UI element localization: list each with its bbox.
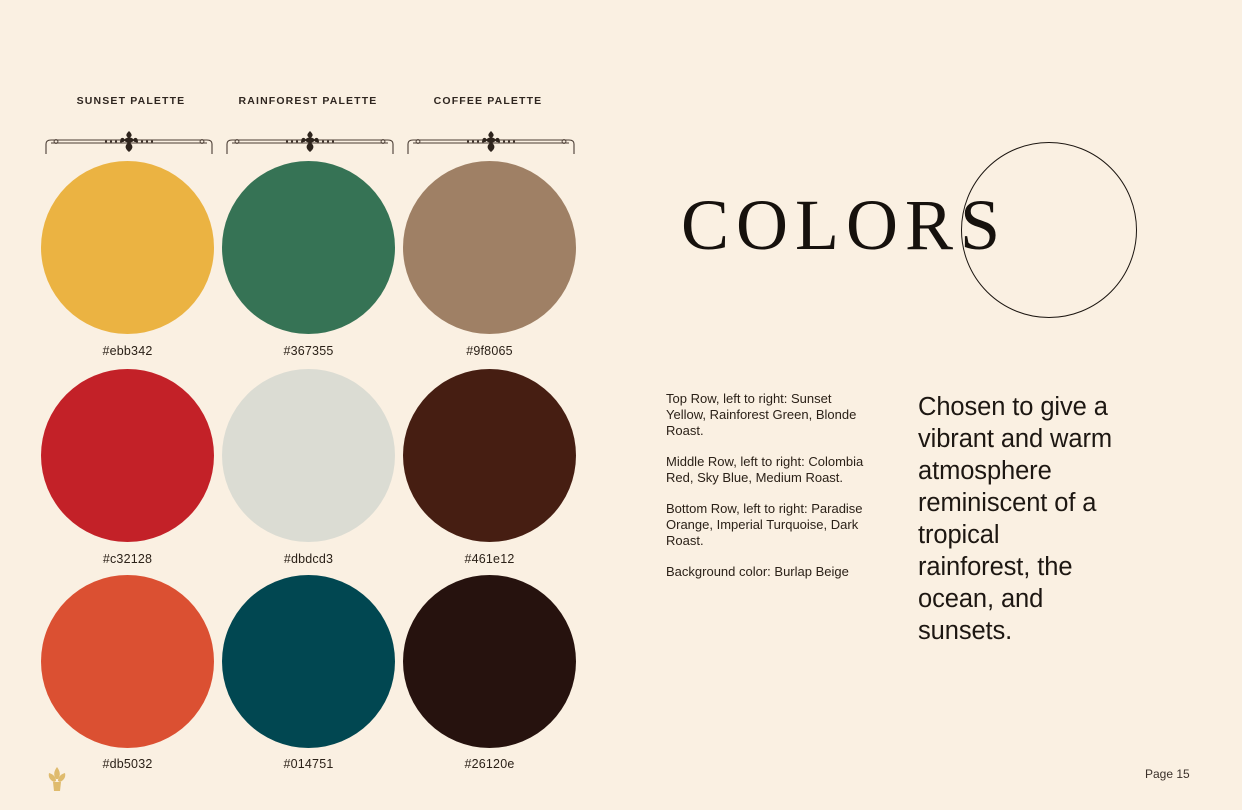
color-swatch[interactable] bbox=[222, 575, 395, 748]
note-background-color: Background color: Burlap Beige bbox=[666, 564, 866, 580]
note-middle-row: Middle Row, left to right: Colombia Red,… bbox=[666, 454, 866, 486]
color-swatch[interactable] bbox=[41, 369, 214, 542]
color-swatch[interactable] bbox=[41, 575, 214, 748]
color-swatch[interactable] bbox=[222, 161, 395, 334]
color-hex-label: #26120e bbox=[403, 757, 576, 771]
color-hex-label: #c32128 bbox=[41, 552, 214, 566]
color-swatch[interactable] bbox=[403, 369, 576, 542]
color-hex-label: #461e12 bbox=[403, 552, 576, 566]
color-hex-label: #9f8065 bbox=[403, 344, 576, 358]
decorative-outline-circle bbox=[961, 142, 1137, 318]
ornament-divider-icon bbox=[43, 130, 215, 156]
ornament-divider-icon bbox=[224, 130, 396, 156]
color-swatch[interactable] bbox=[222, 369, 395, 542]
color-swatch[interactable] bbox=[403, 575, 576, 748]
color-swatch[interactable] bbox=[403, 161, 576, 334]
page-number: Page 15 bbox=[1145, 767, 1190, 781]
brand-logo-icon bbox=[44, 764, 70, 794]
color-hex-label: #dbdcd3 bbox=[222, 552, 395, 566]
ornament-divider-icon bbox=[405, 130, 577, 156]
page-canvas: SUNSET PALETTE RAINFOREST PALETTE COFFEE… bbox=[0, 0, 1242, 810]
color-hex-label: #014751 bbox=[222, 757, 395, 771]
color-hex-label: #ebb342 bbox=[41, 344, 214, 358]
color-swatch[interactable] bbox=[41, 161, 214, 334]
rationale-text: Chosen to give a vibrant and warm atmosp… bbox=[918, 391, 1118, 647]
color-hex-label: #367355 bbox=[222, 344, 395, 358]
note-bottom-row: Bottom Row, left to right: Paradise Oran… bbox=[666, 501, 866, 549]
page-title: COLORS bbox=[681, 189, 1007, 261]
palette-heading-coffee: COFFEE PALETTE bbox=[373, 95, 603, 107]
palette-notes: Top Row, left to right: Sunset Yellow, R… bbox=[666, 391, 866, 580]
note-top-row: Top Row, left to right: Sunset Yellow, R… bbox=[666, 391, 866, 439]
palette-grid: SUNSET PALETTE RAINFOREST PALETTE COFFEE… bbox=[0, 0, 620, 810]
